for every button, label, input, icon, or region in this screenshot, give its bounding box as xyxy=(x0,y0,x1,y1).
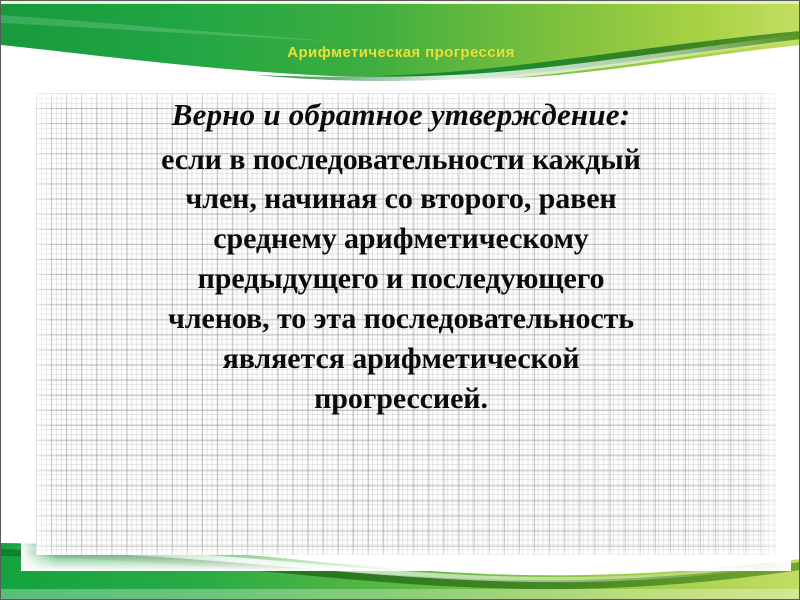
statement-body: если в последовательности каждый член, н… xyxy=(39,140,763,419)
statement-line: является арифметической xyxy=(39,339,763,379)
statement-line: предыдущего и последующего xyxy=(39,259,763,299)
slide-title: Арифметическая прогрессия xyxy=(1,44,800,61)
statement-line: среднему арифметическому xyxy=(39,219,763,259)
slide-content: Верно и обратное утверждение: если в пос… xyxy=(39,97,763,419)
statement-line: если в последовательности каждый xyxy=(39,140,763,180)
statement-heading: Верно и обратное утверждение: xyxy=(39,97,763,134)
statement-line: членов, то эта последовательность xyxy=(39,299,763,339)
statement-line: прогрессией. xyxy=(39,379,763,419)
statement-line: член, начиная со второго, равен xyxy=(39,179,763,219)
presentation-slide: Арифметическая прогрессия Верно и обратн… xyxy=(0,0,800,600)
